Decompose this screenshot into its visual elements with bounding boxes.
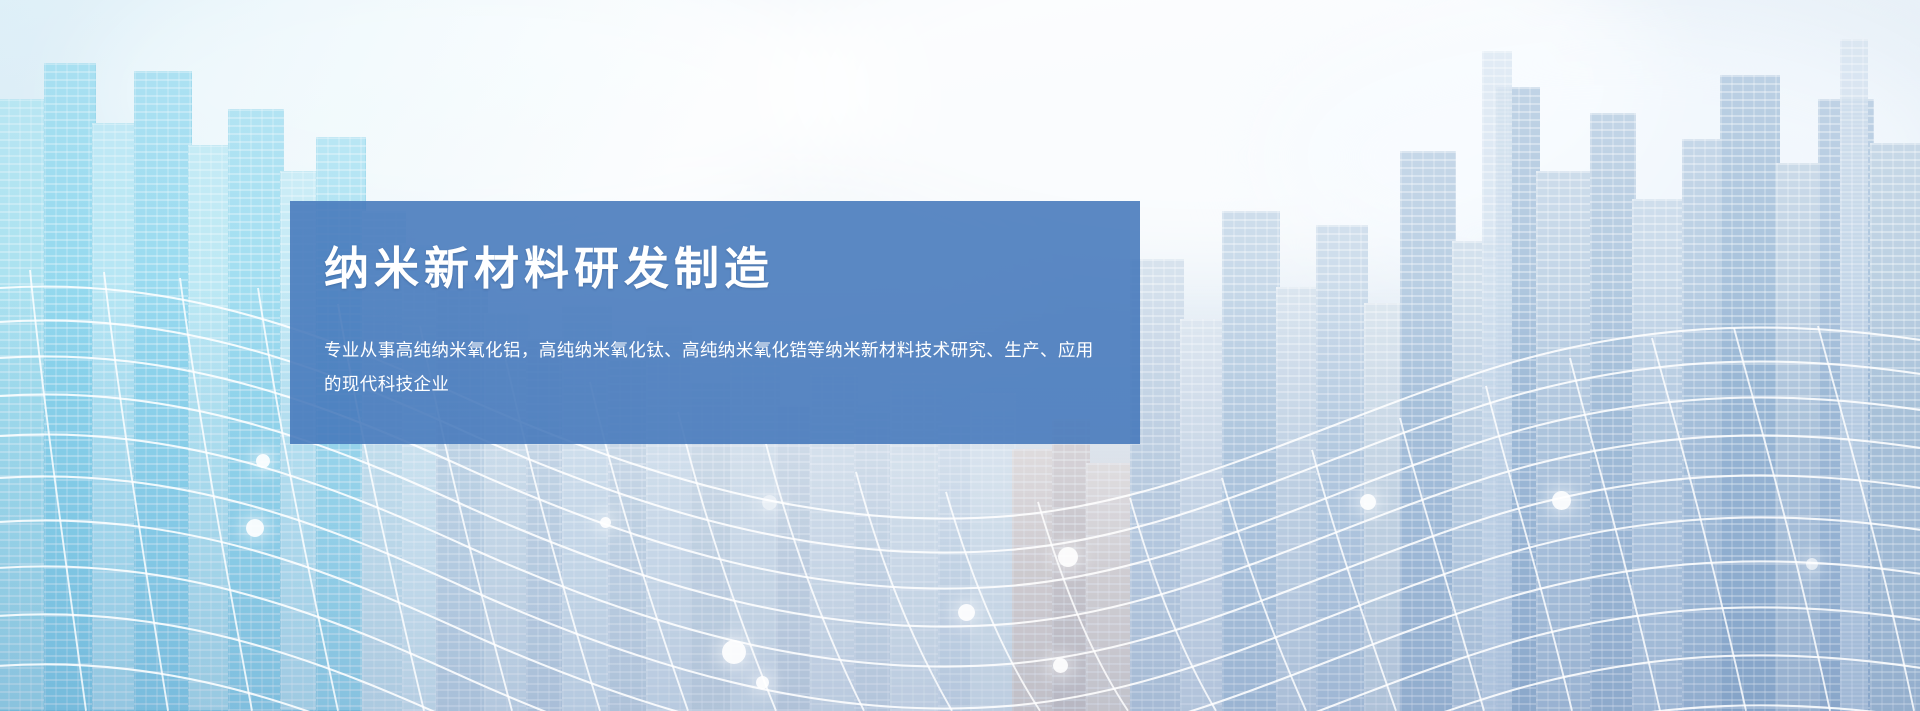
hero-text-panel: 纳米新材料研发制造 专业从事高纯纳米氧化铝，高纯纳米氧化钛、高纯纳米氧化锆等纳米… [290,201,1140,444]
page-title: 纳米新材料研发制造 [324,245,1106,292]
hero-banner: 纳米新材料研发制造 专业从事高纯纳米氧化铝，高纯纳米氧化钛、高纯纳米氧化锆等纳米… [0,0,1920,711]
page-subtitle: 专业从事高纯纳米氧化铝，高纯纳米氧化钛、高纯纳米氧化锆等纳米新材料技术研究、生产… [324,334,1106,402]
